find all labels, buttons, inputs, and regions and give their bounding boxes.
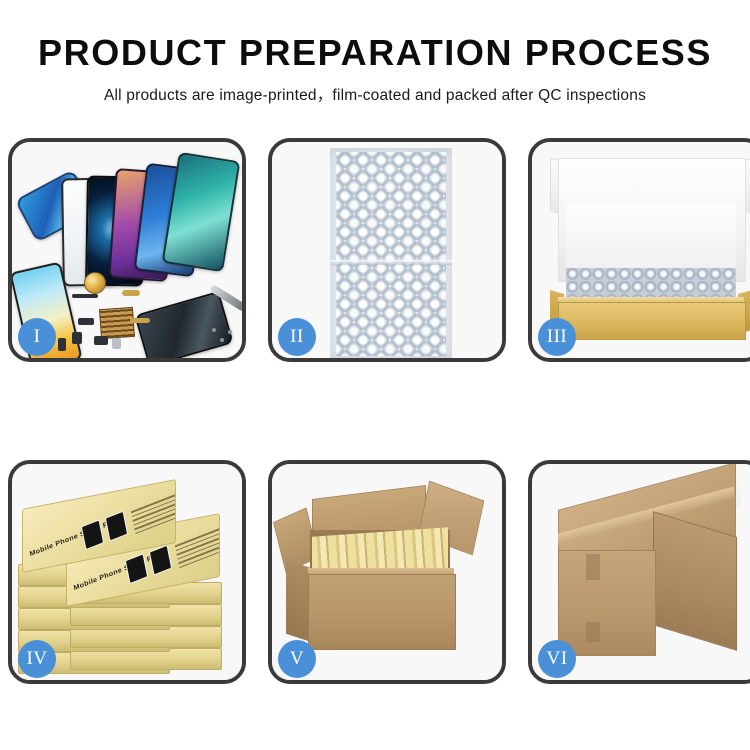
phone-chassis-icon xyxy=(134,291,233,358)
foam-sheet-icon xyxy=(566,204,736,272)
bubble-wrap-sleeve-icon xyxy=(330,148,452,358)
step-panel-3[interactable]: III xyxy=(528,138,750,362)
product-photo-thumb xyxy=(149,545,172,576)
page-header: PRODUCT PREPARATION PROCESS All products… xyxy=(0,0,750,105)
step-badge-3: III xyxy=(538,318,576,356)
box-spec-lines xyxy=(131,494,176,537)
step-panel-5[interactable]: V xyxy=(268,460,506,684)
speaker-part xyxy=(94,336,108,345)
step-panel-2[interactable]: II xyxy=(268,138,506,362)
bubble-wrap-seam xyxy=(330,260,452,265)
screw-part xyxy=(212,328,216,332)
step-badge-1: I xyxy=(18,318,56,356)
screw-part xyxy=(220,338,224,342)
battery-part xyxy=(112,338,121,349)
step-panel-1[interactable]: I xyxy=(8,138,246,362)
step-badge-5: V xyxy=(278,640,316,678)
chip-array-icon xyxy=(99,307,135,339)
carton-front-panel xyxy=(558,550,656,656)
camera-module-part xyxy=(72,332,82,344)
carton-seam xyxy=(586,554,600,580)
kraft-box-front xyxy=(558,302,746,340)
page-subtitle: All products are image-printed，film-coat… xyxy=(0,83,750,105)
bubble-texture xyxy=(336,152,446,356)
carton-front xyxy=(308,574,456,650)
step-badge-2: II xyxy=(278,318,316,356)
step-badge-6: VI xyxy=(538,640,576,678)
connector-part xyxy=(78,318,94,325)
carton-side-panel xyxy=(653,511,737,651)
step-panel-4[interactable]: Mobile Phone Spare Parts Mobile Phone Sp… xyxy=(8,460,246,684)
flex-cable-part xyxy=(130,318,150,323)
process-step-grid: I II xyxy=(8,138,748,684)
carton-seam xyxy=(586,622,600,642)
flex-cable-part xyxy=(122,290,140,296)
step-badge-4: IV xyxy=(18,640,56,678)
flex-cable-part xyxy=(72,294,98,298)
speaker-coil-icon xyxy=(84,272,106,294)
box-spec-lines xyxy=(175,528,220,571)
product-photo-thumb xyxy=(105,511,128,542)
screw-part xyxy=(228,330,232,334)
step-panel-6[interactable]: VI xyxy=(528,460,750,684)
vibrator-part xyxy=(58,338,66,351)
page-title: PRODUCT PREPARATION PROCESS xyxy=(0,34,750,72)
